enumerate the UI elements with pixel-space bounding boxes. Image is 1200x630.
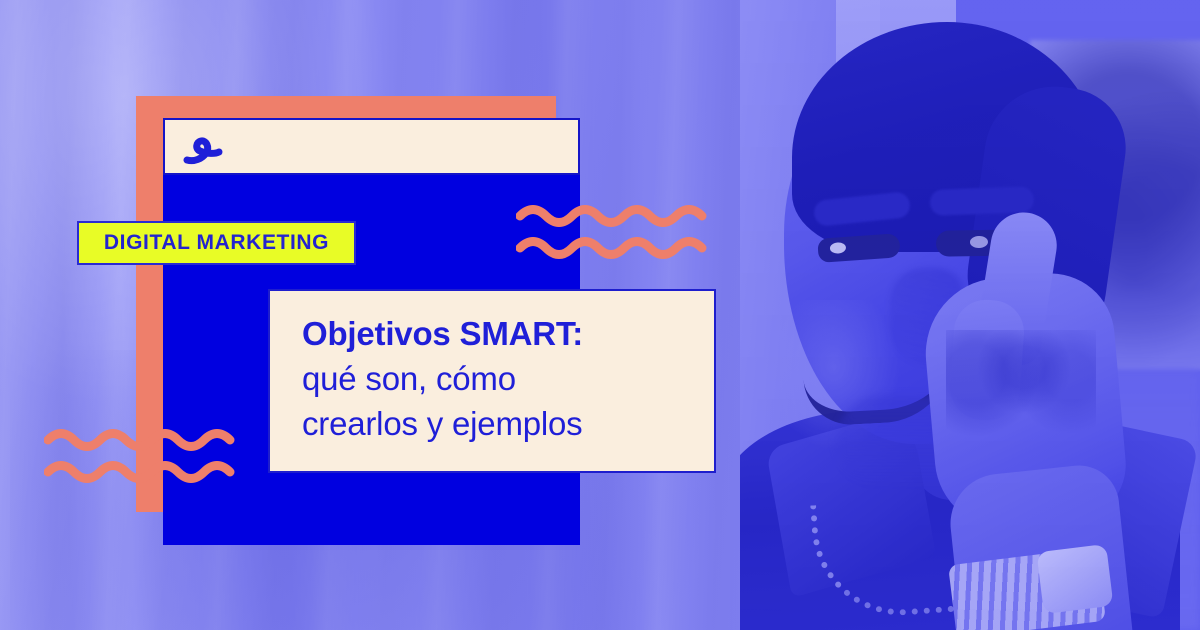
squiggle-loop-icon (181, 128, 227, 168)
title-line-3: crearlos y ejemplos (302, 401, 690, 446)
category-badge: DIGITAL MARKETING (77, 221, 356, 265)
portrait-duotone-tint (740, 0, 1200, 630)
portrait-photo (740, 0, 1200, 630)
card-header-bar (163, 118, 580, 175)
wave-decoration-top-right (516, 198, 726, 265)
title-card: Objetivos SMART: qué son, cómo crearlos … (268, 289, 716, 473)
title-line-1: Objetivos SMART: (302, 311, 690, 356)
wave-decoration-bottom-left (44, 422, 254, 489)
category-badge-label: DIGITAL MARKETING (104, 231, 329, 255)
cover-canvas: DIGITAL MARKETING Objetivos SMART: qué s… (0, 0, 1200, 630)
title-line-2: qué son, cómo (302, 356, 690, 401)
